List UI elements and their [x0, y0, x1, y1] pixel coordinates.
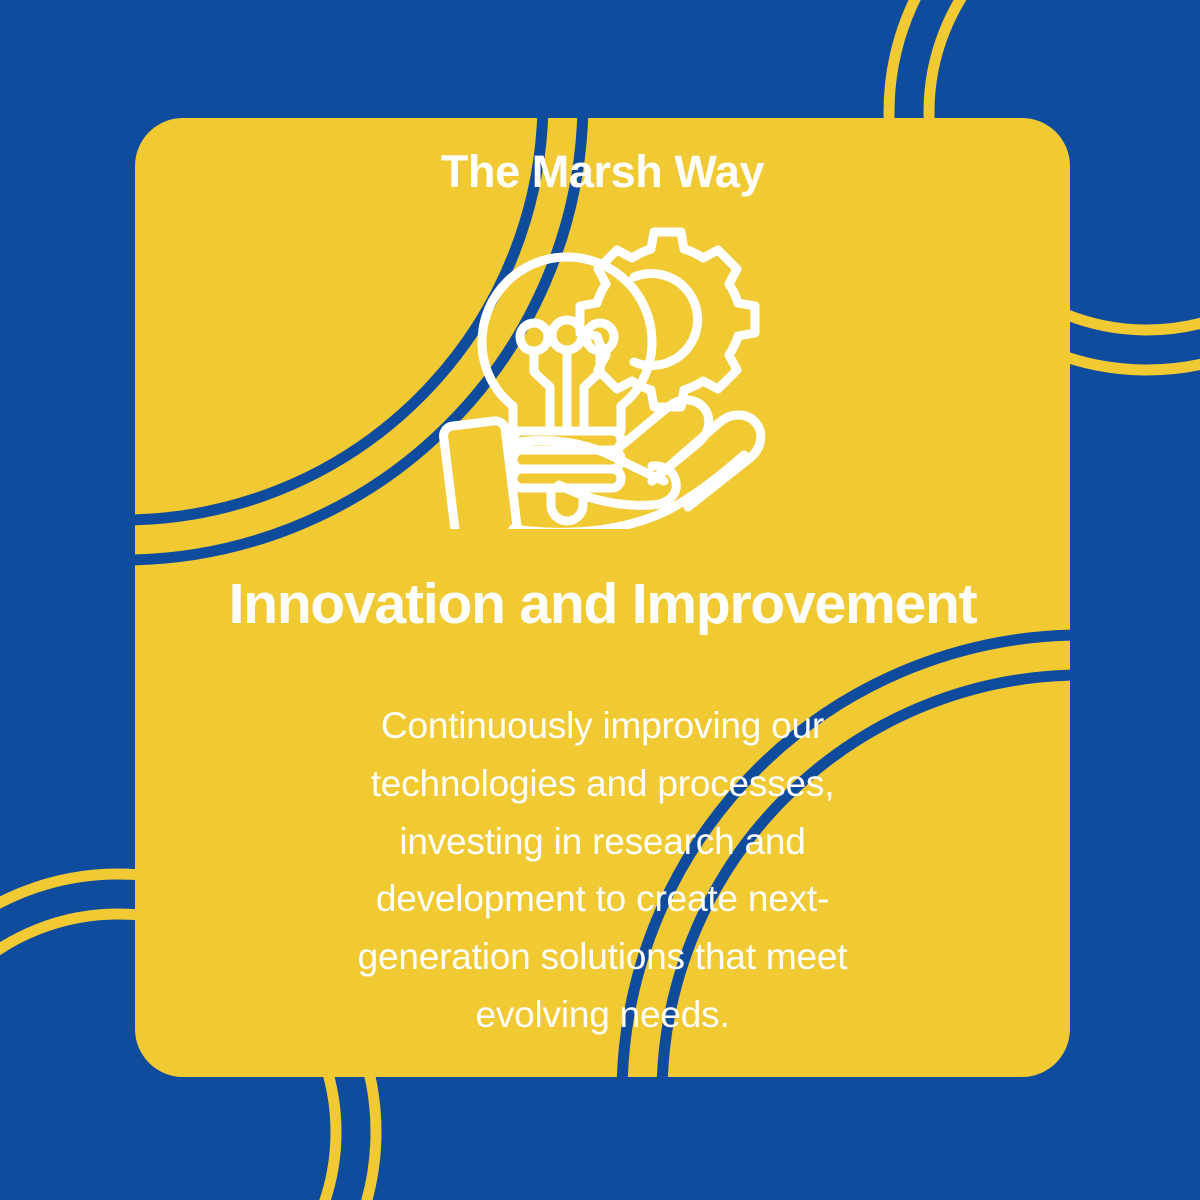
value-card: The Marsh Way [135, 118, 1070, 1077]
card-eyebrow: The Marsh Way [441, 148, 764, 195]
card-body-text: Continuously improving our technologies … [303, 697, 903, 1043]
poster-canvas: The Marsh Way [0, 0, 1200, 1200]
card-headline: Innovation and Improvement [229, 575, 977, 635]
lightbulb-gear-in-hand-icon [438, 217, 768, 529]
card-content: The Marsh Way [135, 118, 1070, 1077]
